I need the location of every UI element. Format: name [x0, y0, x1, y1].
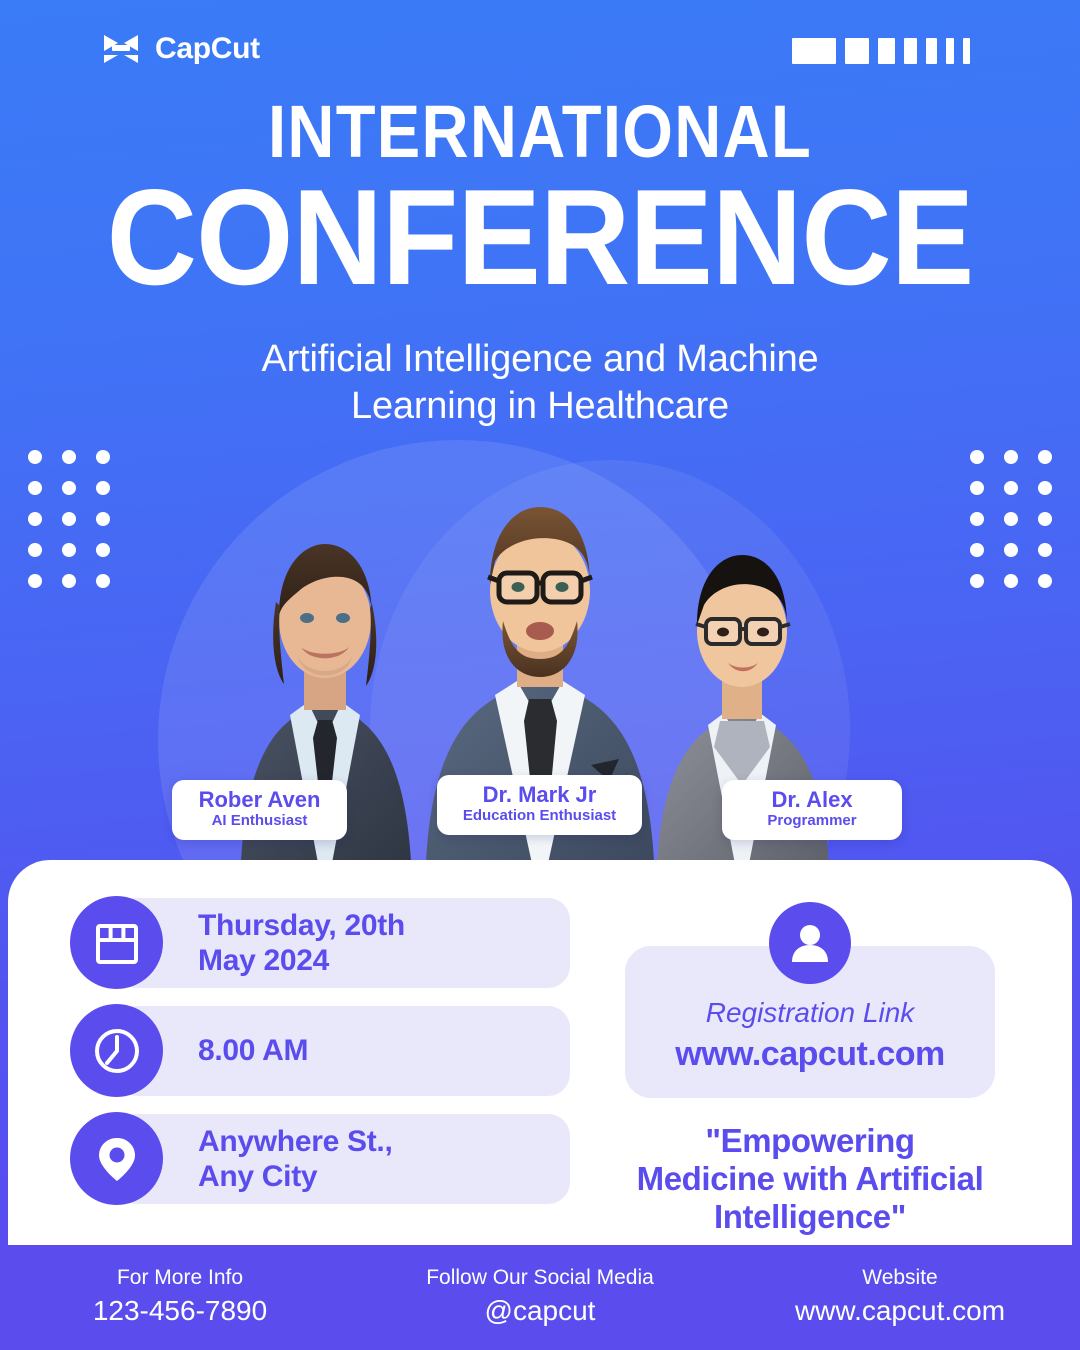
clock-icon: [70, 1004, 163, 1097]
quote-line-1: "Empowering: [620, 1122, 1000, 1160]
time-value: 8.00 AM: [198, 1033, 308, 1068]
subtitle-line-2: Learning in Healthcare: [0, 383, 1080, 430]
detail-row-location: Anywhere St., Any City: [70, 1114, 570, 1204]
brand-name: CapCut: [155, 32, 260, 66]
speaker-badge-3: Dr. Alex Programmer: [722, 780, 902, 840]
details-card: Thursday, 20th May 2024 8.0: [8, 860, 1072, 1246]
speaker-badges: Rober Aven AI Enthusiast Dr. Mark Jr Edu…: [0, 775, 1080, 831]
footer-info-label: For More Info: [0, 1265, 360, 1291]
quote-line-3: Intelligence": [620, 1198, 1000, 1236]
speaker-name-3: Dr. Alex: [740, 788, 884, 812]
event-quote: "Empowering Medicine with Artificial Int…: [620, 1122, 1000, 1237]
location-line-2: Any City: [198, 1159, 392, 1194]
subtitle: Artificial Intelligence and Machine Lear…: [0, 336, 1080, 430]
detail-row-date: Thursday, 20th May 2024: [70, 898, 570, 988]
footer-social: Follow Our Social Media @capcut: [360, 1265, 720, 1330]
speaker-role-1: AI Enthusiast: [190, 812, 329, 831]
footer-info-value: 123-456-7890: [0, 1293, 360, 1329]
location-pin-icon: [70, 1112, 163, 1205]
footer-website-value[interactable]: www.capcut.com: [720, 1293, 1080, 1329]
detail-row-time: 8.00 AM: [70, 1006, 570, 1096]
registration-and-quote: Registration Link www.capcut.com "Empowe…: [570, 898, 1022, 1246]
decorative-bars-icon: [792, 38, 970, 64]
speaker-badge-2: Dr. Mark Jr Education Enthusiast: [437, 775, 642, 835]
speaker-role-2: Education Enthusiast: [455, 807, 624, 826]
speaker-name-1: Rober Aven: [190, 788, 329, 812]
date-line-1: Thursday, 20th: [198, 908, 405, 943]
event-details-list: Thursday, 20th May 2024 8.0: [70, 898, 570, 1246]
speaker-name-2: Dr. Mark Jr: [455, 783, 624, 807]
subtitle-line-1: Artificial Intelligence and Machine: [0, 336, 1080, 383]
date-line-2: May 2024: [198, 943, 405, 978]
registration-url[interactable]: www.capcut.com: [645, 1035, 975, 1074]
speaker-role-3: Programmer: [740, 812, 884, 831]
quote-line-2: Medicine with Artificial: [620, 1160, 1000, 1198]
capcut-logo-icon: [100, 32, 142, 66]
footer-contact: For More Info 123-456-7890: [0, 1265, 360, 1330]
title-line-1: INTERNATIONAL: [65, 96, 1015, 169]
page-title: INTERNATIONAL CONFERENCE: [0, 96, 1080, 300]
person-icon: [769, 902, 851, 984]
footer-website: Website www.capcut.com: [720, 1265, 1080, 1330]
footer-social-value[interactable]: @capcut: [360, 1293, 720, 1329]
registration-label: Registration Link: [645, 998, 975, 1029]
calendar-icon: [70, 896, 163, 989]
footer-website-label: Website: [720, 1265, 1080, 1291]
brand-logo-group: CapCut: [100, 32, 260, 66]
title-line-2: CONFERENCE: [43, 175, 1037, 300]
footer-social-label: Follow Our Social Media: [360, 1265, 720, 1291]
speaker-badge-1: Rober Aven AI Enthusiast: [172, 780, 347, 840]
conference-poster: CapCut INTERNATIONAL CONFERENCE Artifici…: [0, 0, 1080, 1350]
footer-bar: For More Info 123-456-7890 Follow Our So…: [0, 1245, 1080, 1350]
registration-block: Registration Link www.capcut.com: [625, 902, 995, 1098]
location-line-1: Anywhere St.,: [198, 1124, 392, 1159]
